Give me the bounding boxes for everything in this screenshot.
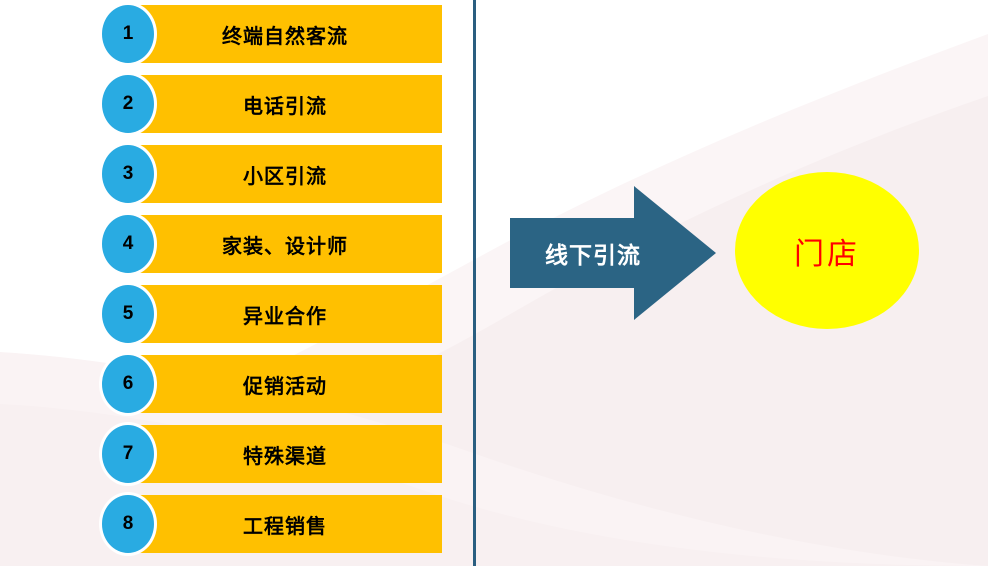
channel-row-4[interactable]: 家装、设计师 4 — [0, 215, 470, 273]
arrow-label: 线下引流 — [510, 186, 676, 320]
channel-row-2[interactable]: 电话引流 2 — [0, 75, 470, 133]
vertical-divider — [473, 0, 476, 566]
slide-canvas: 终端自然客流 1 电话引流 2 小区引流 3 家装、设计师 4 异业合作 5 — [0, 0, 988, 566]
channel-list: 终端自然客流 1 电话引流 2 小区引流 3 家装、设计师 4 异业合作 5 — [0, 0, 470, 566]
channel-number-badge: 1 — [102, 5, 154, 63]
channel-row-3[interactable]: 小区引流 3 — [0, 145, 470, 203]
channel-label: 家装、设计师 — [128, 215, 442, 273]
channel-row-5[interactable]: 异业合作 5 — [0, 285, 470, 343]
channel-number-badge: 5 — [102, 285, 154, 343]
channel-label: 电话引流 — [128, 75, 442, 133]
channel-number-badge: 6 — [102, 355, 154, 413]
channel-number-badge: 7 — [102, 425, 154, 483]
channel-label: 工程销售 — [128, 495, 442, 553]
channel-label: 异业合作 — [128, 285, 442, 343]
channel-number-badge: 8 — [102, 495, 154, 553]
channel-label: 特殊渠道 — [128, 425, 442, 483]
channel-row-8[interactable]: 工程销售 8 — [0, 495, 470, 553]
destination-label: 门店 — [735, 172, 919, 329]
channel-row-6[interactable]: 促销活动 6 — [0, 355, 470, 413]
channel-number-badge: 4 — [102, 215, 154, 273]
channel-number-badge: 2 — [102, 75, 154, 133]
channel-label: 终端自然客流 — [128, 5, 442, 63]
flow-diagram: 线下引流 门店 — [476, 0, 988, 566]
channel-label: 小区引流 — [128, 145, 442, 203]
channel-row-7[interactable]: 特殊渠道 7 — [0, 425, 470, 483]
channel-label: 促销活动 — [128, 355, 442, 413]
channel-row-1[interactable]: 终端自然客流 1 — [0, 5, 470, 63]
channel-number-badge: 3 — [102, 145, 154, 203]
